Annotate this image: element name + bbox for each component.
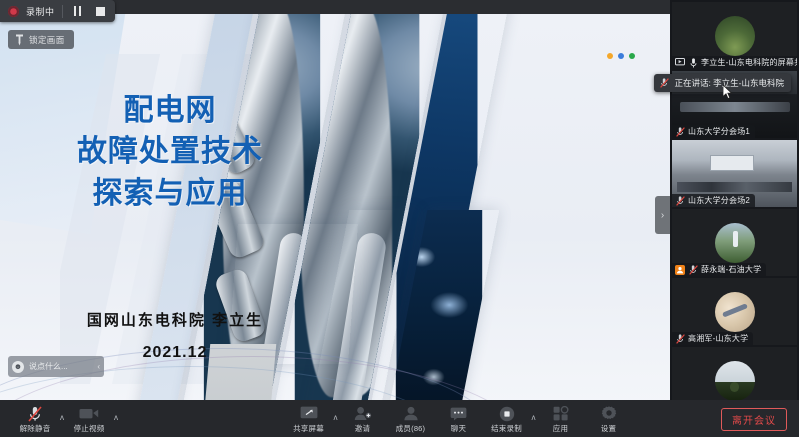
record-dot-icon xyxy=(8,6,19,17)
tile-label: 李立生-山东电科院的屏幕共享 xyxy=(672,56,797,69)
screen-share-icon xyxy=(300,406,318,421)
lock-screen-label: 锁定画面 xyxy=(29,34,65,46)
participant-name: 高湘军-山东大学 xyxy=(688,333,748,344)
slide-dot-orange xyxy=(607,53,613,59)
chat-icon xyxy=(450,406,467,421)
toolbar-label: 结束录制 xyxy=(491,423,522,434)
slide-title-line-3: 探索与应用 xyxy=(0,173,340,214)
quick-chat-input[interactable]: 说点什么... xyxy=(29,361,92,372)
toolbar-label: 停止视频 xyxy=(74,423,105,434)
slide-dots xyxy=(607,53,635,59)
chevron-right-icon: › xyxy=(661,210,664,221)
toolbar-members-button[interactable]: 成员(86) xyxy=(388,403,434,434)
participant-name: 山东大学分会场1 xyxy=(688,126,750,137)
toolbar-chat-button[interactable]: 聊天 xyxy=(436,403,482,434)
mic-muted-icon xyxy=(675,196,685,206)
pause-icon xyxy=(74,6,82,16)
participant-tile[interactable]: 薛永端-石油大学 xyxy=(672,209,797,276)
toolbar-label: 邀请 xyxy=(355,423,370,434)
mic-muted-icon xyxy=(28,406,42,421)
host-icon xyxy=(675,265,685,275)
mic-muted-icon xyxy=(659,78,669,88)
avatar xyxy=(715,16,755,56)
toolbar-apps-button[interactable]: 应用 xyxy=(538,403,584,434)
screen-share-icon xyxy=(675,58,685,68)
leave-meeting-label: 离开会议 xyxy=(732,412,776,427)
lock-screen-button[interactable]: 锁定画面 xyxy=(8,30,74,49)
quick-chat-bar[interactable]: ☻ 说点什么... ‹ xyxy=(8,356,104,377)
participant-name: 山东大学分会场2 xyxy=(688,195,750,206)
share-options-caret[interactable]: ʌ xyxy=(334,413,338,434)
record-options-caret[interactable]: ʌ xyxy=(532,413,536,434)
toolbar-invite-button[interactable]: 邀请 xyxy=(340,403,386,434)
members-icon xyxy=(403,406,419,421)
toolbar-stop-video-button[interactable]: 停止视频 xyxy=(66,403,112,434)
divider xyxy=(62,5,63,18)
mic-muted-icon xyxy=(675,334,685,344)
stop-recording-button[interactable] xyxy=(93,3,109,19)
slide-dot-blue xyxy=(618,53,624,59)
mic-icon xyxy=(688,58,698,68)
participant-name: 薛永端-石油大学 xyxy=(701,264,761,275)
toolbar-label: 设置 xyxy=(601,423,616,434)
leave-meeting-button[interactable]: 离开会议 xyxy=(721,408,787,431)
video-options-caret[interactable]: ʌ xyxy=(114,413,118,434)
mic-muted-icon xyxy=(675,127,685,137)
slide-title-line-2: 故障处置技术 xyxy=(0,131,340,172)
tile-label: 薛永端-石油大学 xyxy=(672,263,766,276)
recording-indicator: 录制中 xyxy=(0,0,115,22)
camera-icon xyxy=(79,406,99,421)
toolbar-stop-recording-button[interactable]: 结束录制 xyxy=(484,403,530,434)
mic-muted-icon xyxy=(688,265,698,275)
toolbar-label: 解除静音 xyxy=(20,423,51,434)
pause-recording-button[interactable] xyxy=(70,3,86,19)
tile-label: 高湘军-山东大学 xyxy=(672,332,753,345)
record-stop-icon xyxy=(499,406,515,421)
avatar xyxy=(715,223,755,263)
collapse-rail-handle[interactable]: › xyxy=(655,196,670,234)
participant-tile[interactable]: 高湘军-山东大学 xyxy=(672,278,797,345)
toolbar-label: 成员(86) xyxy=(396,423,426,434)
meeting-toolbar[interactable]: 解除静音 ʌ 停止视频 ʌ 共享屏幕 ʌ xyxy=(0,400,799,437)
slide-author: 国网山东电科院 李立生 xyxy=(0,309,350,330)
gear-icon xyxy=(601,406,617,421)
toolbar-left-group: 解除静音 ʌ 停止视频 ʌ xyxy=(12,403,118,434)
participant-name: 李立生-山东电科院的屏幕共享 xyxy=(701,57,797,68)
toolbar-label: 应用 xyxy=(553,423,568,434)
toolbar-share-screen-button[interactable]: 共享屏幕 xyxy=(286,403,332,434)
participant-rail[interactable]: 李立生-山东电科院的屏幕共享 山东大学分会场1 山东大学分会场2 xyxy=(670,0,799,417)
toolbar-settings-button[interactable]: 设置 xyxy=(586,403,632,434)
toolbar-label: 聊天 xyxy=(451,423,466,434)
smiley-icon[interactable]: ☻ xyxy=(12,361,24,373)
toolbar-center-group: 共享屏幕 ʌ 邀请 成员(86) 聊天 xyxy=(286,403,632,434)
toolbar-unmute-button[interactable]: 解除静音 xyxy=(12,403,58,434)
mic-options-caret[interactable]: ʌ xyxy=(60,413,64,434)
meeting-window: 配电网 故障处置技术 探索与应用 国网山东电科院 李立生 2021.12 ☻ 说… xyxy=(0,0,799,437)
toolbar-label: 共享屏幕 xyxy=(293,423,324,434)
pin-icon xyxy=(15,34,24,46)
invite-icon xyxy=(354,406,372,421)
slide-dot-green xyxy=(629,53,635,59)
stop-icon xyxy=(96,7,105,16)
avatar xyxy=(715,292,755,332)
slide-title: 配电网 故障处置技术 探索与应用 xyxy=(0,90,340,214)
mouse-cursor xyxy=(723,85,734,100)
participant-tile-screen-share[interactable]: 李立生-山东电科院的屏幕共享 xyxy=(672,2,797,69)
avatar xyxy=(715,361,755,401)
slide-title-line-1: 配电网 xyxy=(124,94,217,127)
chevron-left-icon[interactable]: ‹ xyxy=(97,362,100,371)
tile-label: 山东大学分会场1 xyxy=(672,125,755,138)
shared-screen-stage[interactable]: 配电网 故障处置技术 探索与应用 国网山东电科院 李立生 2021.12 ☻ 说… xyxy=(0,14,670,417)
participant-tile[interactable]: 山东大学分会场2 xyxy=(672,140,797,207)
tile-label: 山东大学分会场2 xyxy=(672,194,755,207)
recording-status-label: 录制中 xyxy=(26,5,55,18)
apps-icon xyxy=(553,406,569,421)
